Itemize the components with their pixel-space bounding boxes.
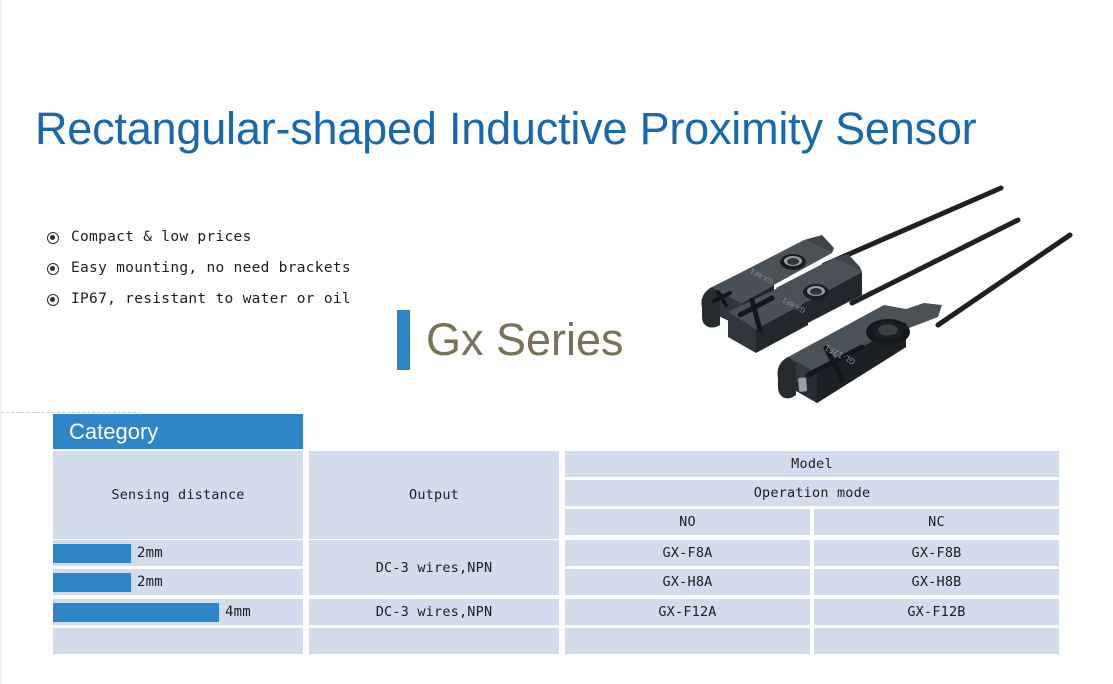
distance-label: 2mm bbox=[131, 545, 163, 561]
distance-bar bbox=[53, 573, 131, 592]
list-item: Compact & low prices bbox=[47, 221, 447, 252]
bullet-label: IP67, resistant to water or oil bbox=[71, 291, 351, 307]
table-cell-output: DC-3 wires,NPN bbox=[309, 599, 559, 625]
spec-table: Category Sensing distance Output Model O… bbox=[53, 414, 1059, 666]
table-cell-model-no: GX-F8A bbox=[565, 540, 810, 566]
table-row bbox=[53, 628, 303, 654]
list-item: Easy mounting, no need brackets bbox=[47, 252, 447, 283]
distance-label: 2mm bbox=[131, 574, 163, 590]
table-cell-model-nc: GX-F12B bbox=[814, 599, 1059, 625]
distance-bar bbox=[53, 603, 219, 622]
table-header-model: Model bbox=[565, 451, 1059, 477]
table-header-output: Output bbox=[309, 451, 559, 539]
feature-bullet-list: Compact & low prices Easy mounting, no n… bbox=[47, 221, 447, 314]
bullet-label: Compact & low prices bbox=[71, 229, 252, 245]
series-label: Gx Series bbox=[426, 312, 624, 368]
bullet-dot-icon bbox=[47, 293, 59, 305]
bullet-dot-icon bbox=[47, 231, 59, 243]
distance-label: 4mm bbox=[219, 604, 251, 620]
distance-bar bbox=[53, 544, 131, 563]
table-header-operation-mode: Operation mode bbox=[565, 480, 1059, 506]
table-row: 2mm bbox=[53, 540, 303, 566]
list-item: IP67, resistant to water or oil bbox=[47, 283, 447, 314]
table-cell-output: DC-3 wires,NPN bbox=[309, 540, 559, 595]
table-cell-output bbox=[309, 628, 559, 654]
table-header-nc: NC bbox=[814, 509, 1059, 535]
page-title: Rectangular-shaped Inductive Proximity S… bbox=[35, 98, 1075, 160]
table-cell-model-nc: GX-F8B bbox=[814, 540, 1059, 566]
table-cell-model-no: GX-F12A bbox=[565, 599, 810, 625]
bullet-label: Easy mounting, no need brackets bbox=[71, 260, 351, 276]
slide-canvas: Rectangular-shaped Inductive Proximity S… bbox=[0, 0, 1113, 684]
table-cell-model-no: GX-H8A bbox=[565, 569, 810, 595]
product-illustration: GX-8F1 GX-8F1 bbox=[656, 175, 1113, 410]
table-header-sensing-distance: Sensing distance bbox=[53, 451, 303, 539]
table-cell-model-nc bbox=[814, 628, 1059, 654]
table-header-no: NO bbox=[565, 509, 810, 535]
table-row: 2mm bbox=[53, 569, 303, 595]
accent-bar bbox=[397, 310, 410, 370]
table-header-category: Category bbox=[53, 414, 303, 449]
divider bbox=[1, 412, 141, 413]
table-row: 4mm bbox=[53, 599, 303, 625]
bullet-dot-icon bbox=[47, 262, 59, 274]
table-cell-model-nc: GX-H8B bbox=[814, 569, 1059, 595]
table-cell-model-no bbox=[565, 628, 810, 654]
product-photo: GX-8F1 GX-8F1 bbox=[656, 175, 1113, 410]
series-callout: Gx Series bbox=[397, 310, 624, 370]
